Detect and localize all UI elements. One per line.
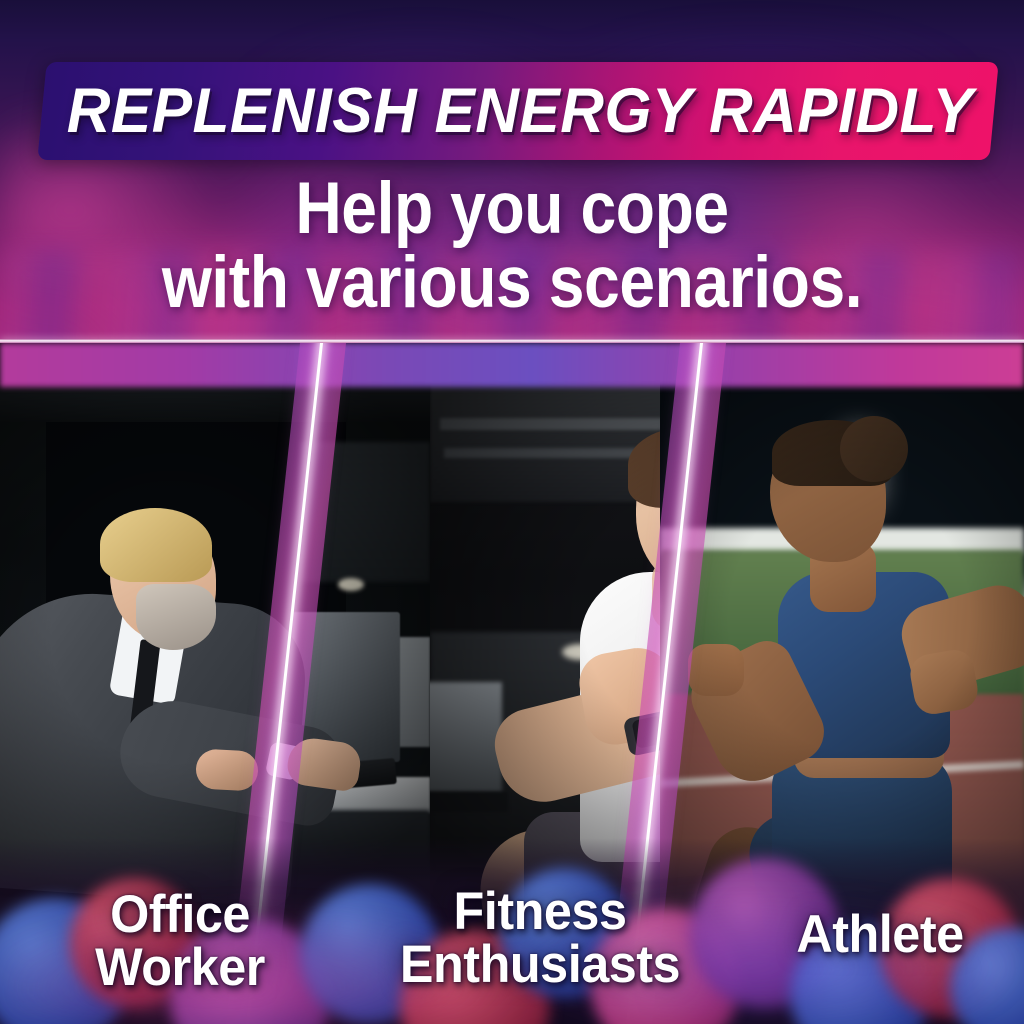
poster-root: REPLENISH ENERGY RAPIDLY Help you cope w… [0, 0, 1024, 1024]
caption-line-1: Office [110, 885, 250, 944]
caption-fitness-enthusiasts: Fitness Enthusiasts [388, 885, 692, 991]
caption-line-2: Enthusiasts [388, 938, 692, 991]
caption-office-worker: Office Worker [47, 888, 313, 994]
subtitle-line-1: Help you cope [295, 168, 728, 249]
caption-line-1: Athlete [796, 905, 963, 964]
caption-line-2: Worker [47, 941, 313, 994]
subtitle-block: Help you cope with various scenarios. [61, 172, 962, 321]
subtitle-line-2: with various scenarios. [61, 246, 962, 320]
caption-line-1: Fitness [454, 882, 627, 941]
strip-top-glow [0, 343, 1024, 387]
headline-banner [37, 62, 998, 160]
caption-athlete: Athlete [747, 908, 1013, 961]
